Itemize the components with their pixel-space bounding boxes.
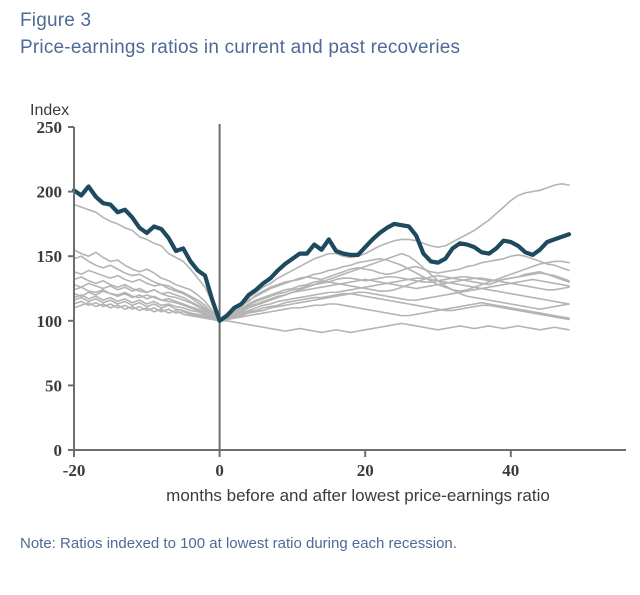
y-axis-title: Index: [30, 102, 69, 119]
y-tick-label-0: 0: [54, 441, 63, 460]
y-tick-label-100: 100: [37, 312, 63, 331]
figure-container: Figure 3 Price-earnings ratios in curren…: [0, 0, 640, 595]
y-tick-label-200: 200: [37, 183, 63, 202]
figure-note: Note: Ratios indexed to 100 at lowest ra…: [20, 533, 620, 555]
y-tick-label-50: 50: [45, 376, 62, 395]
x-tick-label--20: -20: [63, 461, 86, 480]
axes-group: [68, 127, 626, 457]
series-line-12: [74, 259, 569, 321]
x-tick-label-40: 40: [502, 461, 519, 480]
figure-header: Figure 3 Price-earnings ratios in curren…: [20, 8, 630, 61]
x-tick-label-20: 20: [357, 461, 374, 480]
series-line-3: [74, 256, 569, 321]
x-axis-title: months before and after lowest price-ear…: [166, 486, 550, 505]
background-series-group: [74, 184, 569, 333]
x-tick-label-0: 0: [215, 461, 224, 480]
figure-title: Price-earnings ratios in current and pas…: [20, 34, 630, 61]
y-tick-label-150: 150: [37, 247, 63, 266]
chart-canvas: 050100150200250-2002040Indexmonths befor…: [0, 86, 640, 511]
y-tick-label-250: 250: [37, 118, 63, 137]
axis-labels-group: 050100150200250-2002040Indexmonths befor…: [30, 102, 550, 505]
series-line-1: [74, 184, 569, 321]
figure-number: Figure 3: [20, 8, 630, 34]
price-earnings-line-chart: 050100150200250-2002040Indexmonths befor…: [0, 86, 640, 511]
series-line-7: [74, 279, 569, 320]
